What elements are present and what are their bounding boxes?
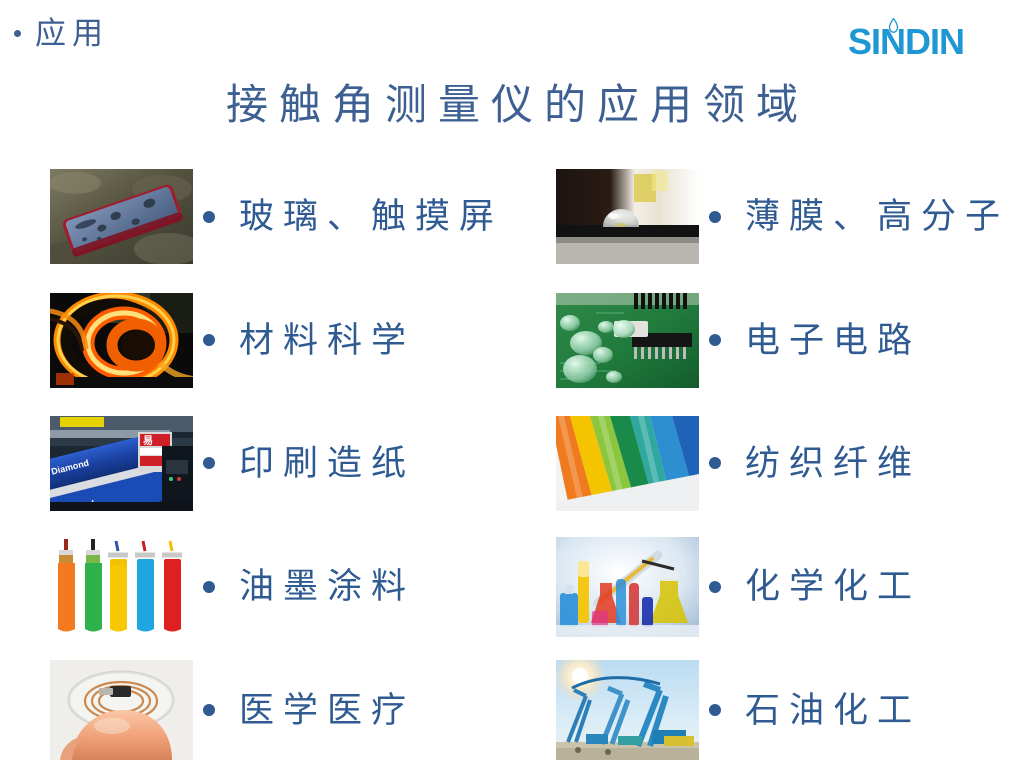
list-item[interactable]: 石油化工 <box>506 649 1024 772</box>
list-item-label: 材料科学 <box>237 323 415 358</box>
smart-contact-lens-on-finger-photo <box>50 660 193 760</box>
bullet-dot-icon <box>14 30 21 37</box>
list-item-label: 玻璃、触摸屏 <box>237 199 503 234</box>
svg-text:易: 易 <box>143 435 153 447</box>
list-item[interactable]: 纺织纤维 <box>506 402 1024 525</box>
page-title: 接触角测量仪的应用领域 <box>0 80 1024 133</box>
chemistry-glassware-photo <box>556 537 699 637</box>
smartphone-water-droplets-photo <box>50 169 193 264</box>
bullet-dot-icon <box>709 211 721 223</box>
list-item-label: 医学医疗 <box>237 693 415 728</box>
list-item-label: 油墨涂料 <box>237 569 415 604</box>
slide-header: 应用 SINDIN <box>0 0 1024 72</box>
list-item[interactable]: 电子电路 <box>506 278 1024 401</box>
list-item[interactable]: 材料科学 <box>0 278 506 401</box>
printing-press-machine-photo: Diamond Diamond 易 <box>50 416 193 511</box>
bullet-dot-icon <box>709 457 721 469</box>
glowing-furnace-coil-photo <box>50 293 193 388</box>
bullet-dot-icon <box>203 334 215 346</box>
bullet-dot-icon <box>203 704 215 716</box>
bullet-dot-icon <box>709 334 721 346</box>
list-item[interactable]: 化学化工 <box>506 525 1024 648</box>
list-item[interactable]: 薄膜、高分子 <box>506 155 1024 278</box>
bullet-dot-icon <box>203 581 215 593</box>
list-item[interactable]: Diamond Diamond 易 印刷造纸 <box>0 402 506 525</box>
list-item[interactable]: 油墨涂料 <box>0 525 506 648</box>
bullet-dot-icon <box>709 581 721 593</box>
paint-brushes-rollers-illustration <box>50 537 193 637</box>
header-bullet-row: 应用 <box>14 18 109 49</box>
pcb-circuit-board-droplets-photo <box>556 293 699 388</box>
application-fields-grid: 玻璃、触摸屏 <box>0 155 1024 772</box>
bullet-dot-icon <box>203 211 215 223</box>
list-item-label: 纺织纤维 <box>743 446 921 481</box>
rainbow-textile-fabric-photo <box>556 416 699 511</box>
bullet-dot-icon <box>709 704 721 716</box>
bullet-dot-icon <box>203 457 215 469</box>
list-item-label: 薄膜、高分子 <box>743 199 1009 234</box>
header-label: 应用 <box>35 18 109 49</box>
oil-pumpjacks-photo <box>556 660 699 760</box>
list-item-label: 电子电路 <box>743 323 921 358</box>
list-item[interactable]: 玻璃、触摸屏 <box>0 155 506 278</box>
list-item-label: 印刷造纸 <box>237 446 415 481</box>
water-droplet-on-film-photo <box>556 169 699 264</box>
list-item-label: 石油化工 <box>743 693 921 728</box>
sindin-logo: SINDIN <box>848 18 998 64</box>
logo-wordmark: SINDIN <box>848 24 964 60</box>
list-item[interactable]: 医学医疗 <box>0 649 506 772</box>
list-item-label: 化学化工 <box>743 569 921 604</box>
